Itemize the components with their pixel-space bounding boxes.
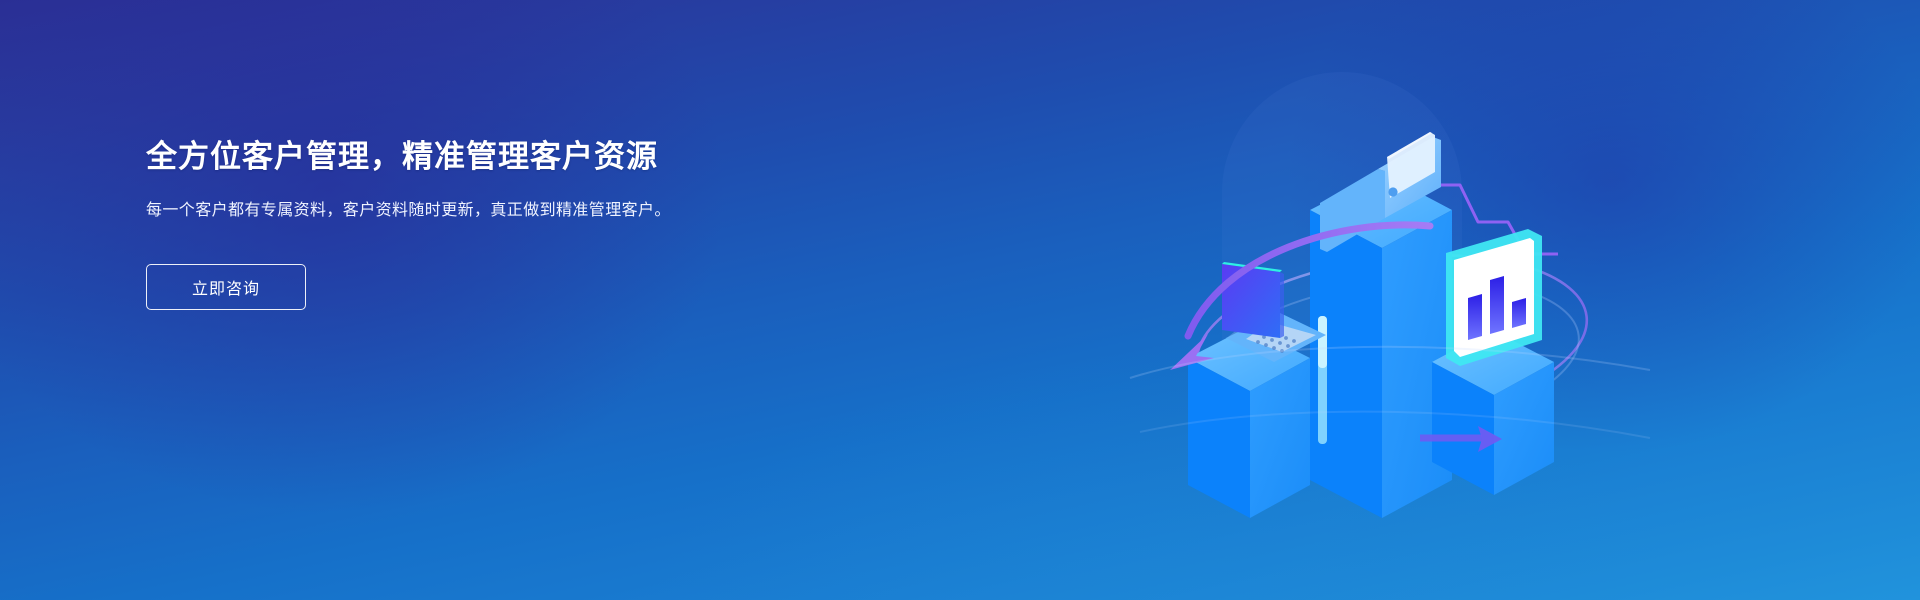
bar-1: [1468, 294, 1482, 340]
consult-now-button[interactable]: 立即咨询: [146, 264, 306, 310]
page-title: 全方位客户管理，精准管理客户资源: [146, 138, 786, 177]
left-pillar: [1188, 327, 1310, 518]
bar-3: [1512, 298, 1526, 328]
hero-banner: 全方位客户管理，精准管理客户资源 每一个客户都有专属资料，客户资料随时更新，真正…: [0, 0, 1920, 600]
bar-2: [1490, 276, 1504, 334]
hero-copy-block: 全方位客户管理，精准管理客户资源 每一个客户都有专属资料，客户资料随时更新，真正…: [146, 138, 786, 310]
chart-screen-device: [1446, 229, 1542, 366]
hero-illustration: [1130, 40, 1650, 560]
hero-subtext: 每一个客户都有专属资料，客户资料随时更新，真正做到精准管理客户。: [146, 199, 728, 224]
